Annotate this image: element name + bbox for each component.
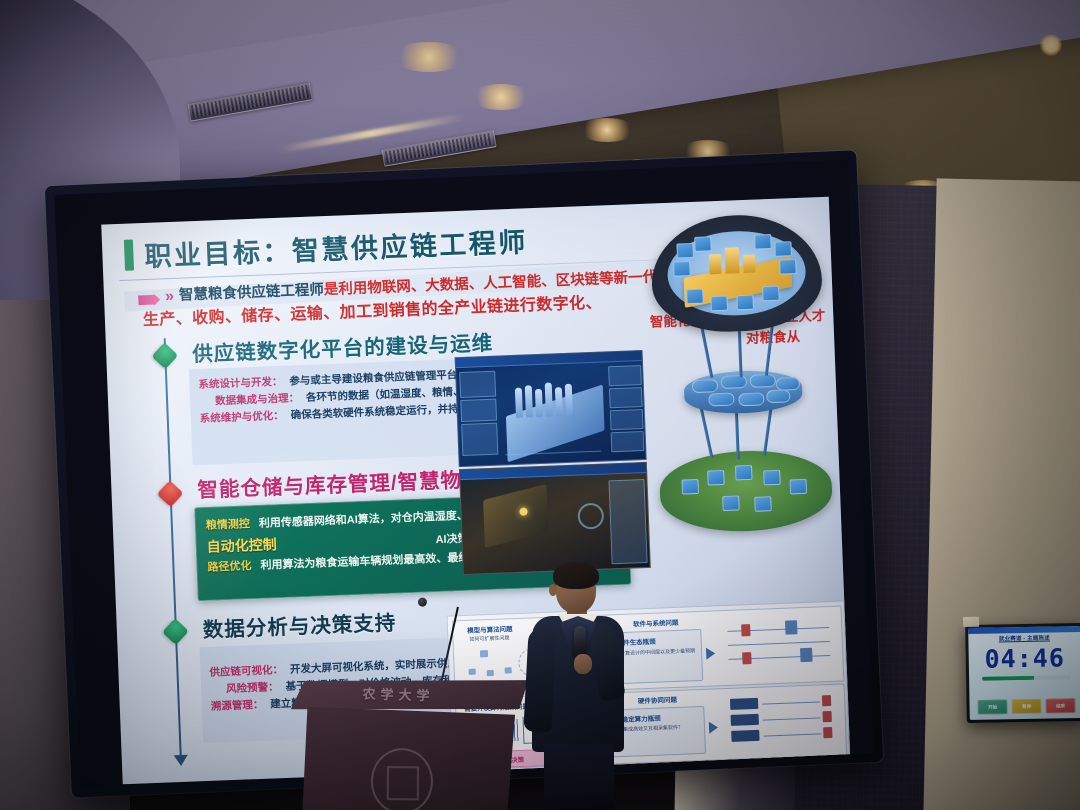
cctv-monitor-image bbox=[459, 462, 651, 575]
item-key: 溯源管理： bbox=[211, 697, 264, 716]
diagram-card-1-title: 模型与算法问题 bbox=[467, 623, 513, 635]
diagram-card-1-sub: 如何可扩展性问题 bbox=[469, 635, 509, 643]
conference-room-scene: 职业目标：智慧供应链工程师 » 智慧粮食供应链工程师是利用物联网、大数据、人工智… bbox=[0, 0, 1080, 810]
item-key: 自动化控制 bbox=[206, 533, 277, 559]
item-key: 粮情测控 bbox=[206, 515, 251, 535]
timeline-axis bbox=[164, 338, 182, 758]
timer-start-button[interactable]: 开始 bbox=[977, 699, 1007, 715]
timeline-arrow-icon bbox=[174, 755, 188, 767]
ceiling-spotlight bbox=[392, 42, 466, 72]
timer-screen: 就业赛道 - 主题陈述 04:46 开始 暂停 结束 bbox=[968, 626, 1080, 720]
presenter bbox=[522, 562, 634, 810]
timeline-marker-2 bbox=[157, 480, 184, 507]
diagram-card-4-title: 硬件协同问题 bbox=[638, 694, 677, 705]
presenter-ear bbox=[549, 584, 557, 596]
item-key: 系统维护与优化： bbox=[199, 408, 284, 428]
tower-ground-layer bbox=[658, 448, 833, 535]
timer-button-group: 开始 暂停 结束 bbox=[977, 698, 1075, 715]
diagram-card-2-title: 软件与系统问题 bbox=[633, 617, 679, 629]
tower-mid-disk bbox=[683, 369, 803, 415]
timeline-marker-3 bbox=[162, 618, 189, 645]
cloud-platform-tower-image bbox=[641, 202, 839, 539]
warehouse-3d-dashboard-image bbox=[455, 350, 647, 467]
timer-pause-button[interactable]: 暂停 bbox=[1011, 699, 1041, 715]
timer-stop-button[interactable]: 结束 bbox=[1045, 698, 1075, 714]
timer-progress-fill bbox=[982, 676, 1034, 681]
countdown-timer-display[interactable]: 就业赛道 - 主题陈述 04:46 开始 暂停 结束 bbox=[965, 623, 1080, 723]
ceiling-spotlight bbox=[578, 118, 636, 142]
intro-lead-dark: 智慧粮食供应链工程师 bbox=[179, 282, 325, 304]
lectern-university-name: 农学大学 bbox=[362, 683, 435, 704]
presenter-left-arm bbox=[523, 627, 556, 732]
timer-progress-track bbox=[982, 675, 1071, 681]
arrow-marker-icon bbox=[138, 293, 160, 306]
presenter-hand bbox=[574, 654, 592, 674]
title-accent-bar bbox=[124, 239, 134, 270]
item-key: 风险预警： bbox=[226, 679, 279, 698]
ceiling-spotlight bbox=[470, 84, 532, 110]
lectern: 农学大学 bbox=[290, 675, 532, 810]
item-key: 数据集成与治理： bbox=[215, 390, 300, 410]
wall-lamp bbox=[1040, 34, 1062, 56]
university-seal-icon bbox=[371, 748, 433, 810]
timer-sticker bbox=[963, 617, 979, 627]
timer-title: 就业赛道 - 主题陈述 bbox=[968, 633, 1080, 643]
presenter-legs bbox=[544, 744, 614, 810]
presenter-hair bbox=[553, 562, 599, 589]
timer-value: 04:46 bbox=[969, 643, 1080, 674]
item-key: 路径优化 bbox=[207, 558, 252, 578]
tower-cloud bbox=[649, 212, 823, 334]
chevron-right-icon: » bbox=[165, 288, 175, 306]
section-heading-3: 数据分析与决策支持 bbox=[202, 606, 397, 643]
